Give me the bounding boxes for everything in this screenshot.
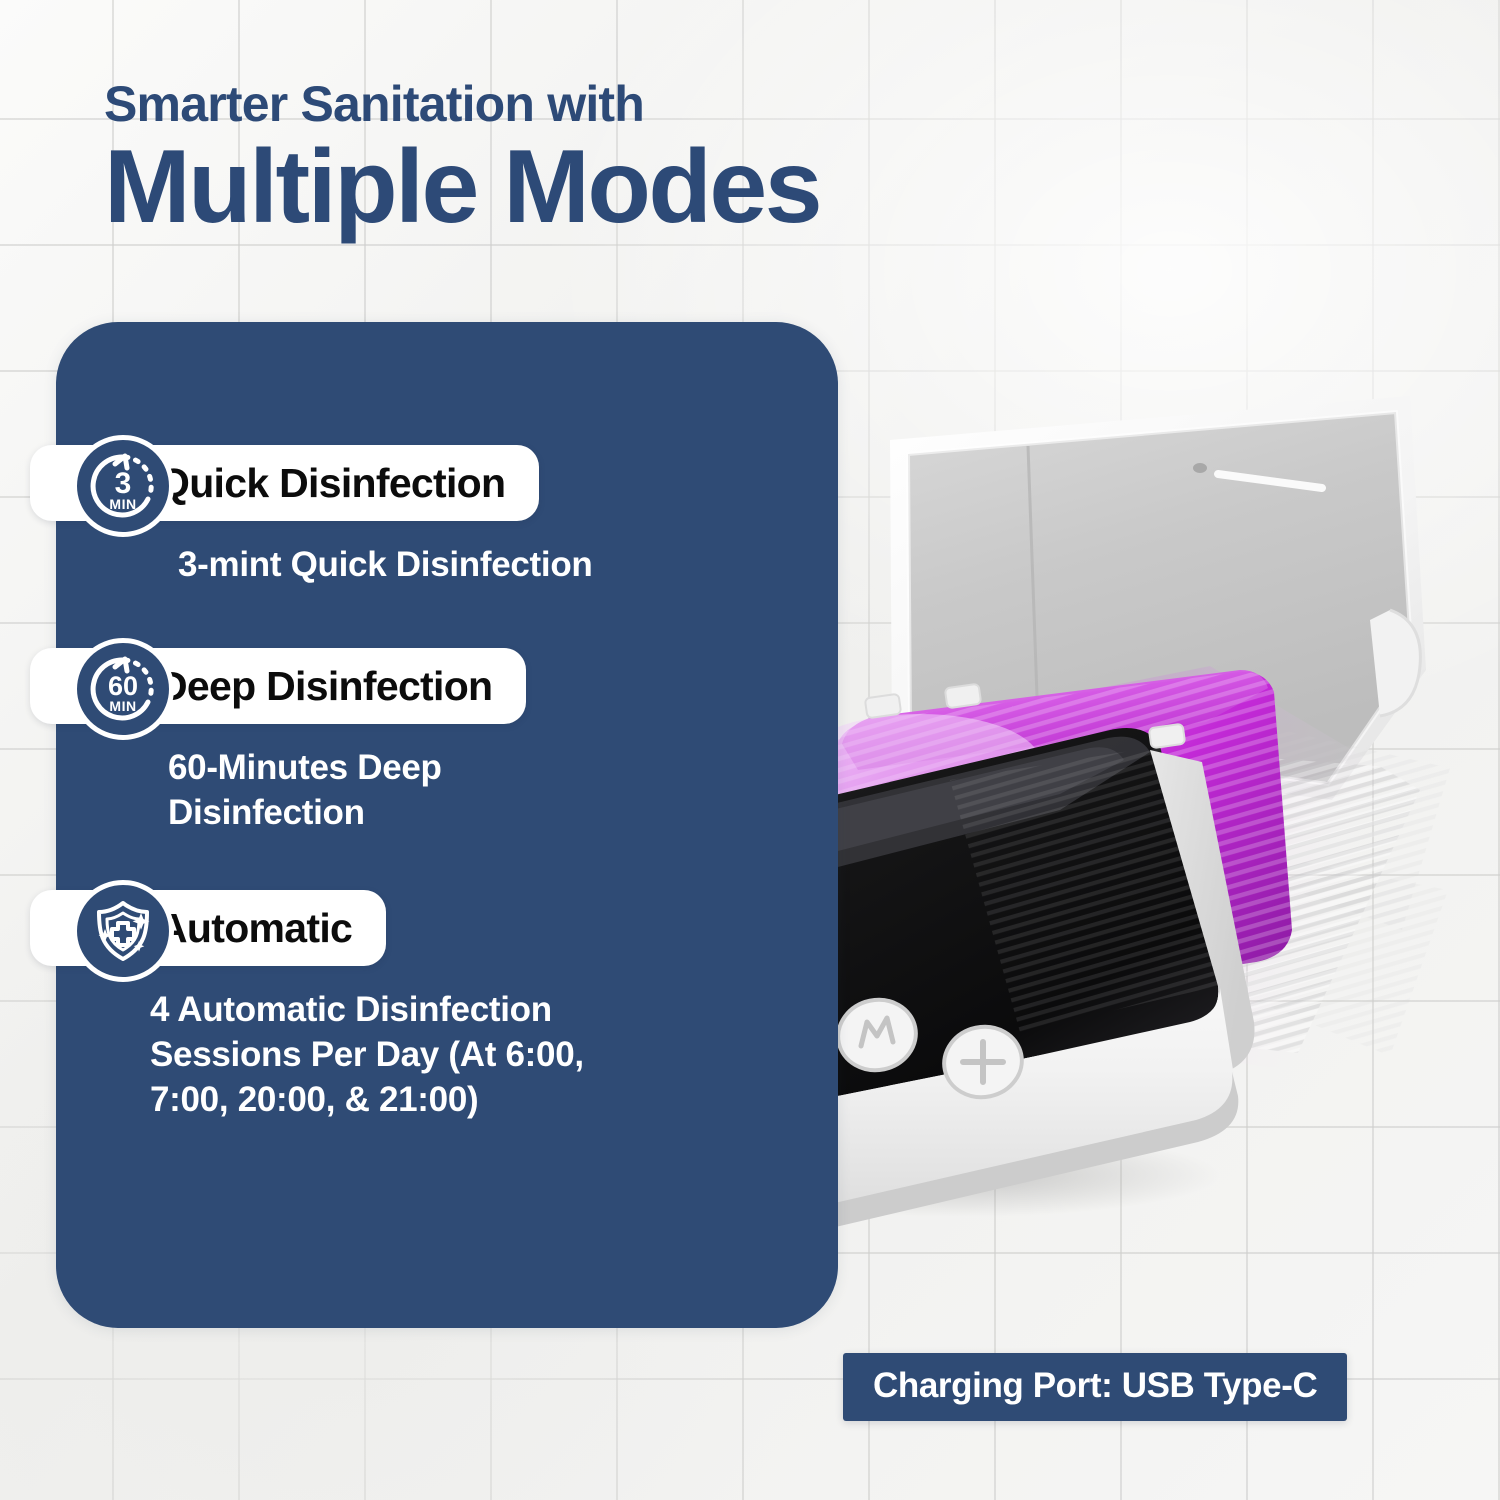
feature-title: Deep Disinfection [158,666,492,707]
infographic-canvas: Smarter Sanitation with Multiple Modes Q… [0,0,1500,1500]
feature-title: Quick Disinfection [158,463,505,504]
features-list: Quick Disinfection 3-mint Quick Disinfec… [0,322,900,1328]
headline-block: Smarter Sanitation with Multiple Modes [104,78,1104,239]
timer-value: 60 [108,671,138,701]
timer-3-min-icon: 3 MIN [72,435,174,537]
feature-description: 4 Automatic Disinfection Sessions Per Da… [150,988,670,1122]
headline-line-1: Smarter Sanitation with [104,78,1104,131]
timer-60-min-icon: 60 MIN [72,638,174,740]
charging-port-badge: Charging Port: USB Type-C [843,1353,1347,1421]
feature-description: 60-Minutes Deep Disinfection [168,746,638,836]
charging-port-label: Charging Port: USB Type-C [873,1366,1317,1405]
timer-unit: MIN [109,698,136,714]
page-title: Multiple Modes [104,135,1104,239]
shield-health-icon [72,880,174,982]
feature-title: Automatic [158,908,352,949]
timer-unit: MIN [109,496,136,512]
feature-description: 3-mint Quick Disinfection [178,543,593,588]
